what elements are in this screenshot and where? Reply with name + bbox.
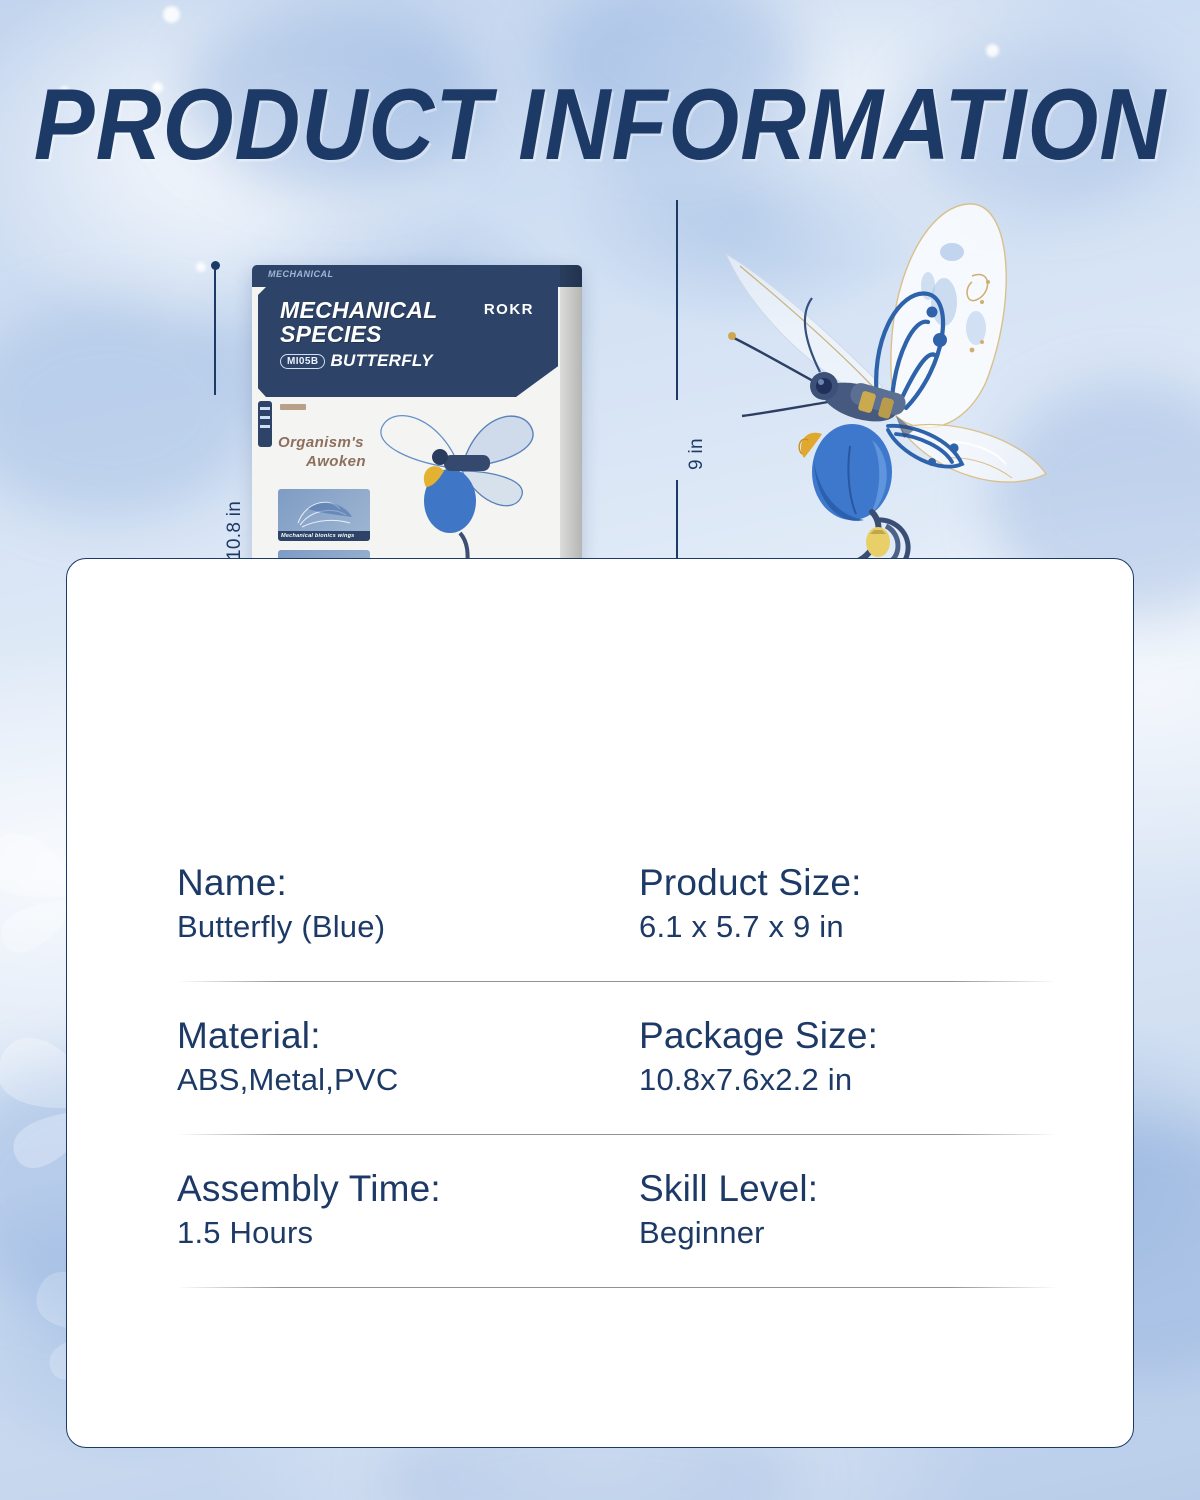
box-micro-text: MECHANICAL (268, 269, 334, 279)
dim-label-package-height: 10.8 in (224, 501, 246, 560)
spec-label: Package Size: (639, 1012, 1057, 1059)
bg-speck (986, 44, 999, 57)
box-subject-label: BUTTERFLY (330, 351, 432, 371)
row-divider (177, 981, 1057, 982)
box-tagline-line2: Awoken (278, 452, 366, 471)
row-divider (177, 1287, 1057, 1288)
spec-value: 1.5 Hours (177, 1212, 617, 1253)
box-model-code: MI05B (280, 354, 325, 369)
dim-line-package-height (214, 265, 216, 395)
spec-cell-assembly-time: Assembly Time: 1.5 Hours (177, 1165, 617, 1253)
infographic-page: PRODUCT INFORMATION MECHANICAL MECHANICA… (0, 0, 1200, 1500)
box-title-line1: MECHANICAL (280, 299, 438, 322)
spec-label: Skill Level: (639, 1165, 1057, 1212)
spec-label: Product Size: (639, 859, 1057, 906)
spec-cell-product-size: Product Size: 6.1 x 5.7 x 9 in (617, 859, 1057, 947)
box-accent-tag (280, 404, 306, 410)
dim-line-product-height (676, 200, 678, 400)
table-row: Material: ABS,Metal,PVC Package Size: 10… (177, 1012, 1057, 1116)
spec-value: Butterfly (Blue) (177, 906, 617, 947)
spec-value: ABS,Metal,PVC (177, 1059, 617, 1100)
feature-caption: Mechanical bionics wings (278, 531, 370, 541)
box-title-line2: SPECIES (280, 323, 382, 346)
spec-label: Material: (177, 1012, 617, 1059)
bg-speck (163, 6, 180, 23)
box-accent-bars (258, 401, 272, 447)
feature-thumbnail: Mechanical bionics wings (278, 489, 370, 541)
box-model-row: MI05B BUTTERFLY (280, 351, 433, 371)
spec-cell-name: Name: Butterfly (Blue) (177, 859, 617, 947)
rokr-brand-logo: ROKR (484, 301, 534, 318)
spec-value: 6.1 x 5.7 x 9 in (639, 906, 1057, 947)
spec-table: Name: Butterfly (Blue) Product Size: 6.1… (177, 859, 1057, 1288)
spec-cell-package-size: Package Size: 10.8x7.6x2.2 in (617, 1012, 1057, 1100)
dim-label-product-height: 9 in (686, 438, 708, 470)
row-divider (177, 1134, 1057, 1135)
spec-value: Beginner (639, 1212, 1057, 1253)
spec-label: Assembly Time: (177, 1165, 617, 1212)
box-tagline: Organism's Awoken (278, 433, 366, 471)
table-row: Name: Butterfly (Blue) Product Size: 6.1… (177, 859, 1057, 963)
spec-cell-skill-level: Skill Level: Beginner (617, 1165, 1057, 1253)
box-top-strip: MECHANICAL (252, 265, 582, 287)
spec-card: Name: Butterfly (Blue) Product Size: 6.1… (66, 558, 1134, 1448)
page-title: PRODUCT INFORMATION (0, 74, 1200, 175)
spec-cell-material: Material: ABS,Metal,PVC (177, 1012, 617, 1100)
table-row: Assembly Time: 1.5 Hours Skill Level: Be… (177, 1165, 1057, 1269)
box-tagline-line1: Organism's (278, 434, 364, 451)
spec-label: Name: (177, 859, 617, 906)
spec-value: 10.8x7.6x2.2 in (639, 1059, 1057, 1100)
box-title-band: MECHANICAL SPECIES ROKR MI05B BUTTERFLY (258, 287, 558, 397)
dim-endpoint (211, 261, 220, 270)
